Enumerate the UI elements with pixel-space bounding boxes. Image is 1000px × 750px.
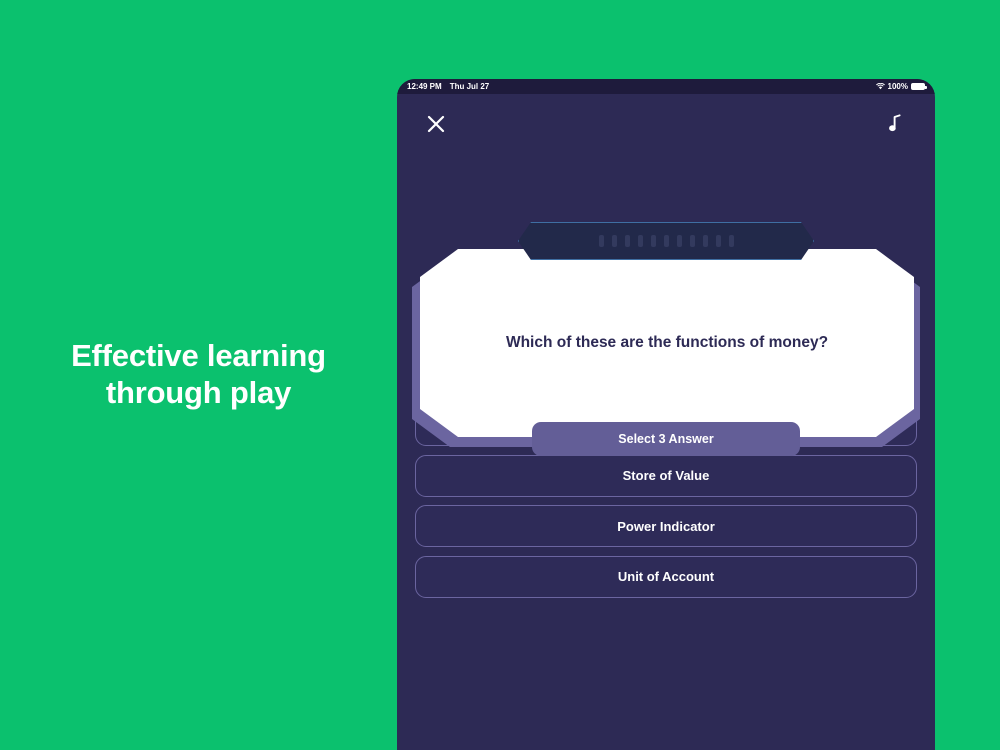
select-count-label: Select 3 Answer: [618, 432, 713, 446]
timer-segment: [703, 235, 708, 247]
timer-segment: [664, 235, 669, 247]
music-note-icon[interactable]: [883, 111, 909, 137]
timer-segment: [677, 235, 682, 247]
question-card: Which of these are the functions of mone…: [412, 249, 920, 447]
answer-option-label: Unit of Account: [618, 569, 714, 584]
timer-segment: [651, 235, 656, 247]
answer-option-label: Store of Value: [623, 468, 710, 483]
answer-option-label: Power Indicator: [617, 519, 715, 534]
select-count-badge: Select 3 Answer: [532, 422, 800, 456]
answer-option-3[interactable]: Power Indicator: [415, 505, 917, 547]
close-icon[interactable]: [423, 111, 449, 137]
timer-segment: [625, 235, 630, 247]
answer-option-2[interactable]: Store of Value: [415, 455, 917, 497]
status-bar-time: 12:49 PM: [407, 82, 442, 91]
timer-segment: [612, 235, 617, 247]
timer-segment: [716, 235, 721, 247]
question-timer-bar: [518, 222, 814, 260]
quiz-top-bar: [397, 94, 935, 154]
question-text: Which of these are the functions of mone…: [506, 333, 828, 354]
timer-segments: [518, 222, 814, 260]
timer-segment: [729, 235, 734, 247]
status-bar-left: 12:49 PM Thu Jul 27: [407, 82, 489, 91]
tablet-device: 12:49 PM Thu Jul 27 100%: [397, 79, 935, 750]
wifi-icon: [876, 83, 885, 90]
battery-percent-label: 100%: [888, 82, 908, 91]
timer-segment: [638, 235, 643, 247]
battery-full-icon: [911, 83, 925, 90]
timer-segment: [690, 235, 695, 247]
answer-option-4[interactable]: Unit of Account: [415, 556, 917, 598]
timer-segment: [599, 235, 604, 247]
promo-panel: Effective learning through play: [0, 0, 397, 750]
promo-headline: Effective learning through play: [34, 338, 364, 411]
status-bar: 12:49 PM Thu Jul 27 100%: [397, 79, 935, 94]
status-bar-right: 100%: [876, 82, 925, 91]
status-bar-date: Thu Jul 27: [450, 82, 490, 91]
question-card-face: Which of these are the functions of mone…: [420, 249, 914, 437]
